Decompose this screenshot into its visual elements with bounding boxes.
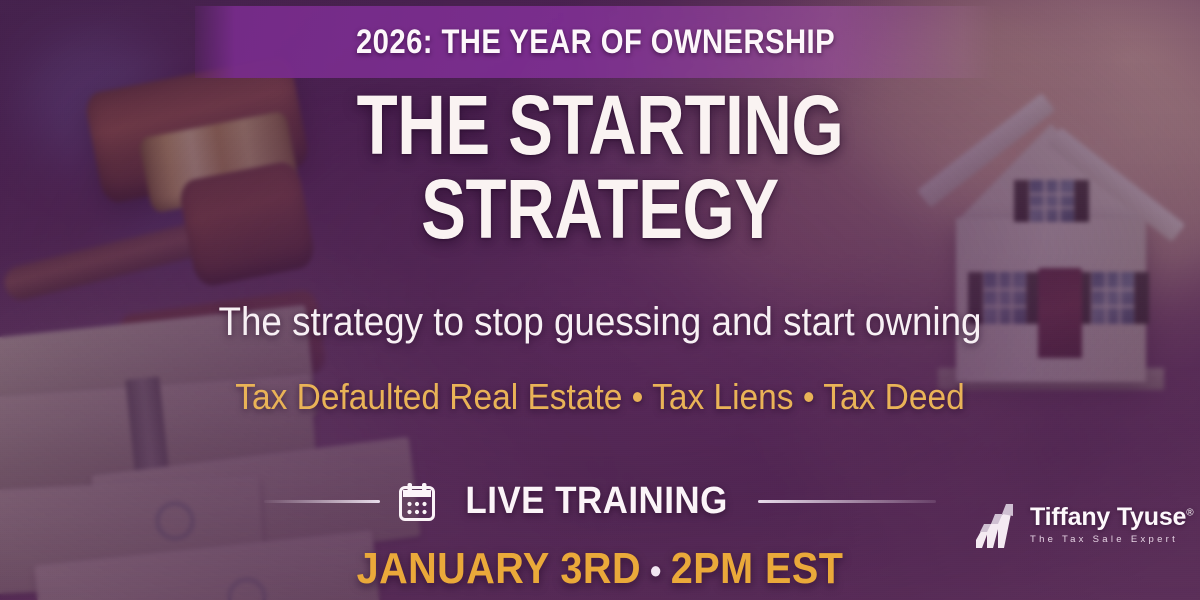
headline-line-1: THE STARTING xyxy=(120,86,1080,164)
brand-logo: Tiffany Tyuse® The Tax Sale Expert xyxy=(975,502,1193,548)
event-datetime: JANUARY 3RD•2PM EST xyxy=(60,544,1140,594)
logo-tagline: The Tax Sale Expert xyxy=(1030,535,1193,545)
banner-content: 2026: THE YEAR OF OWNERSHIP THE STARTING… xyxy=(0,0,1200,600)
live-training-label: LIVE TRAINING xyxy=(466,480,728,523)
divider-line-right xyxy=(758,500,936,503)
logo-text-block: Tiffany Tyuse® The Tax Sale Expert xyxy=(1030,505,1193,545)
subtitle-text: The strategy to stop guessing and start … xyxy=(48,300,1152,345)
eyebrow-text: 2026: THE YEAR OF OWNERSHIP xyxy=(355,23,834,62)
event-date: JANUARY 3RD xyxy=(357,544,641,593)
divider-line-left xyxy=(264,500,380,503)
promotional-banner: 2026: THE YEAR OF OWNERSHIP THE STARTING… xyxy=(0,0,1200,600)
topics-list: Tax Defaulted Real Estate • Tax Liens • … xyxy=(42,376,1158,418)
logo-brand-name: Tiffany Tyuse® xyxy=(1030,505,1193,530)
logo-name-text: Tiffany Tyuse xyxy=(1030,503,1186,531)
registered-trademark-icon: ® xyxy=(1186,508,1193,519)
headline-line-2: STRATEGY xyxy=(120,170,1080,248)
calendar-icon xyxy=(398,482,436,522)
eyebrow-banner-bar: 2026: THE YEAR OF OWNERSHIP xyxy=(195,6,995,78)
page-title: THE STARTING STRATEGY xyxy=(0,86,1200,248)
date-separator-dot: • xyxy=(641,550,671,591)
ascending-bars-logo-icon xyxy=(975,502,1019,548)
event-time: 2PM EST xyxy=(671,544,844,593)
